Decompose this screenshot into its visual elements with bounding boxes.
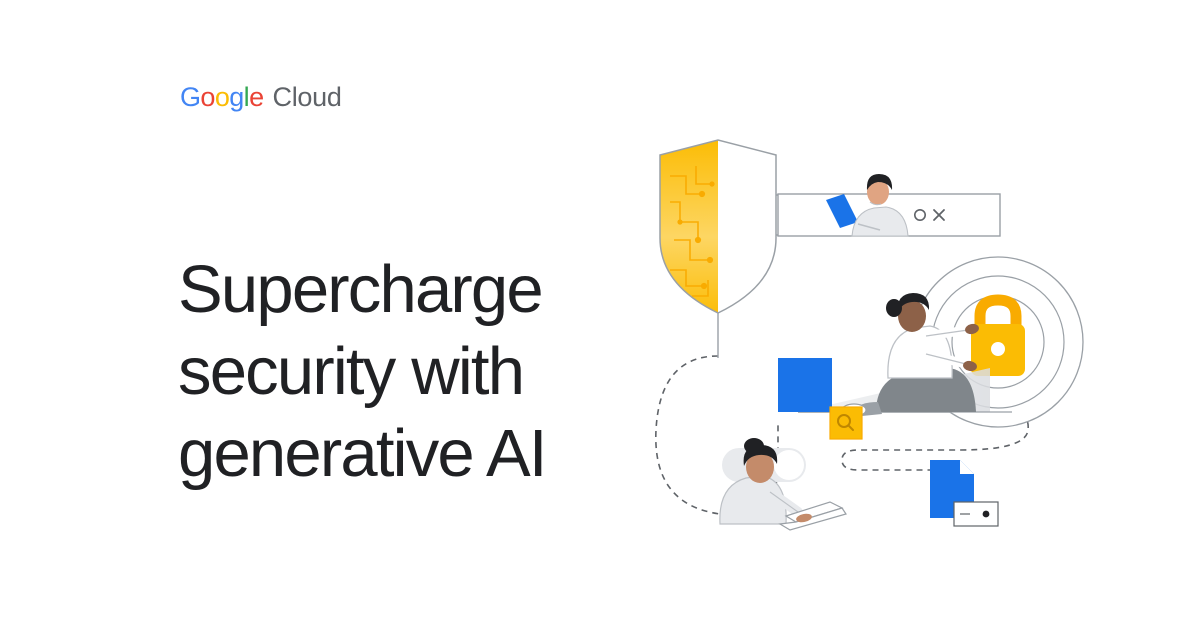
cloud-wordmark: Cloud bbox=[273, 84, 342, 111]
kneeling-person-bun bbox=[886, 299, 902, 317]
logo-letter-2: o bbox=[215, 84, 229, 111]
card-dot-icon bbox=[983, 511, 990, 518]
document-fold-corner bbox=[960, 460, 974, 474]
padlock-keyhole bbox=[991, 342, 1005, 356]
shield bbox=[658, 138, 776, 318]
search-tile[interactable] bbox=[830, 407, 862, 439]
logo-letter-3: g bbox=[229, 84, 243, 111]
document-card bbox=[930, 460, 998, 526]
banner-root: Google Cloud Supercharge security with g… bbox=[0, 0, 1200, 630]
google-cloud-logo[interactable]: Google Cloud bbox=[180, 84, 342, 111]
illustration-canvas bbox=[630, 130, 1110, 540]
headline-line-3: generative AI bbox=[178, 413, 698, 495]
laptop-person-bun bbox=[744, 438, 764, 454]
hero-illustration bbox=[630, 130, 1110, 540]
google-wordmark: Google bbox=[180, 84, 264, 111]
page-title: Supercharge security with generative AI bbox=[178, 249, 698, 495]
toggle-knob[interactable] bbox=[774, 450, 804, 480]
headline-line-1: Supercharge bbox=[178, 249, 698, 331]
logo-letter-5: e bbox=[249, 84, 263, 111]
headline-line-2: security with bbox=[178, 331, 698, 413]
blue-square bbox=[778, 358, 832, 412]
shield-left-half bbox=[658, 138, 718, 318]
browser-window[interactable] bbox=[778, 174, 1000, 236]
logo-letter-0: G bbox=[180, 84, 200, 111]
logo-letter-1: o bbox=[200, 84, 214, 111]
